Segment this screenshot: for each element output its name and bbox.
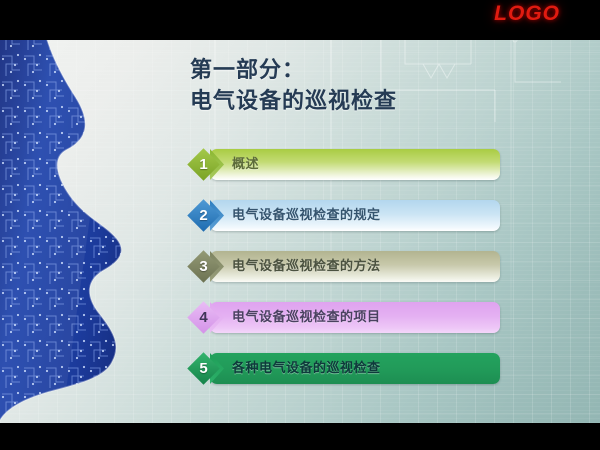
agenda-number-badge: 3 <box>188 251 219 282</box>
title-line-2: 电气设备的巡视检查 <box>190 86 397 117</box>
agenda-list: 1 概述 2 电气设备巡视检查的规定 3 电气设备巡视检查的方法 <box>188 148 500 403</box>
agenda-number-badge: 4 <box>188 302 219 333</box>
title-line-1: 第一部分： <box>190 55 397 86</box>
agenda-label: 概述 <box>232 148 259 181</box>
agenda-number: 2 <box>188 200 219 231</box>
agenda-item-2[interactable]: 2 电气设备巡视检查的规定 <box>188 199 500 233</box>
background-light-streak <box>510 14 512 425</box>
agenda-number: 1 <box>188 149 219 180</box>
logo-text: LOGO <box>494 2 560 26</box>
agenda-number-badge: 2 <box>188 200 219 231</box>
agenda-label: 电气设备巡视检查的规定 <box>232 199 381 232</box>
agenda-item-1[interactable]: 1 概述 <box>188 148 500 182</box>
agenda-item-5[interactable]: 5 各种电气设备的巡视检查 <box>188 352 500 386</box>
agenda-number: 4 <box>188 302 219 333</box>
agenda-number: 3 <box>188 251 219 282</box>
slide-canvas: LOGO <box>0 0 600 450</box>
agenda-item-4[interactable]: 4 电气设备巡视检查的项目 <box>188 301 500 335</box>
circuit-ribbon-graphic <box>0 0 210 434</box>
agenda-item-3[interactable]: 3 电气设备巡视检查的方法 <box>188 250 500 284</box>
agenda-label: 电气设备巡视检查的方法 <box>232 250 381 283</box>
agenda-number-badge: 1 <box>188 149 219 180</box>
bottom-black-bar <box>0 423 600 450</box>
agenda-number: 5 <box>188 353 219 384</box>
page-title: 第一部分： 电气设备的巡视检查 <box>190 55 397 117</box>
agenda-label: 各种电气设备的巡视检查 <box>232 352 381 385</box>
agenda-label: 电气设备巡视检查的项目 <box>232 301 381 334</box>
agenda-number-badge: 5 <box>188 353 219 384</box>
